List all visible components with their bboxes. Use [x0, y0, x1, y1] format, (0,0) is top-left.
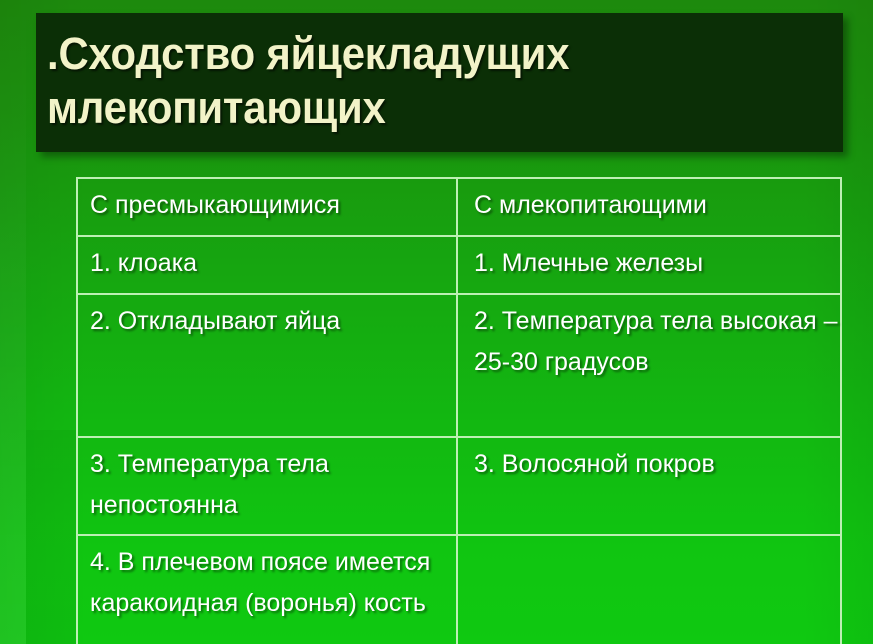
background-band-left	[0, 0, 26, 644]
table-cell-reptiles-2: 2. Откладывают яйца	[77, 294, 457, 437]
table-cell-mammals-1: 1. Млечные железы	[457, 236, 841, 294]
presentation-slide: .Сходство яйцекладущих млекопитающих С п…	[0, 0, 873, 644]
table-cell-reptiles-3: 3. Температура тела непостоянна	[77, 437, 457, 535]
table-cell-mammals-2: 2. Температура тела высокая – 25-30 град…	[457, 294, 841, 437]
slide-title-inner: .Сходство яйцекладущих млекопитающих	[47, 27, 833, 135]
table-cell-mammals-4	[457, 535, 841, 644]
table-cell-reptiles-4: 4. В плечевом поясе имеется каракоидная …	[77, 535, 457, 644]
table-row: 2. Откладывают яйца 2. Температура тела …	[77, 294, 841, 437]
background-band-lower	[26, 430, 76, 644]
table-header-reptiles: С пресмыкающимися	[77, 178, 457, 236]
table-row: 4. В плечевом поясе имеется каракоидная …	[77, 535, 841, 644]
table-cell-reptiles-1: 1. клоака	[77, 236, 457, 294]
table-row: 3. Температура тела непостоянна 3. Волос…	[77, 437, 841, 535]
slide-title-box: .Сходство яйцекладущих млекопитающих	[36, 13, 843, 152]
table-cell-mammals-3: 3. Волосяной покров	[457, 437, 841, 535]
table-header-row: С пресмыкающимися С млекопитающими	[77, 178, 841, 236]
table-header-mammals: С млекопитающими	[457, 178, 841, 236]
table-row: 1. клоака 1. Млечные железы	[77, 236, 841, 294]
page-title: .Сходство яйцекладущих млекопитающих	[47, 27, 778, 135]
comparison-table: С пресмыкающимися С млекопитающими 1. кл…	[76, 177, 842, 644]
